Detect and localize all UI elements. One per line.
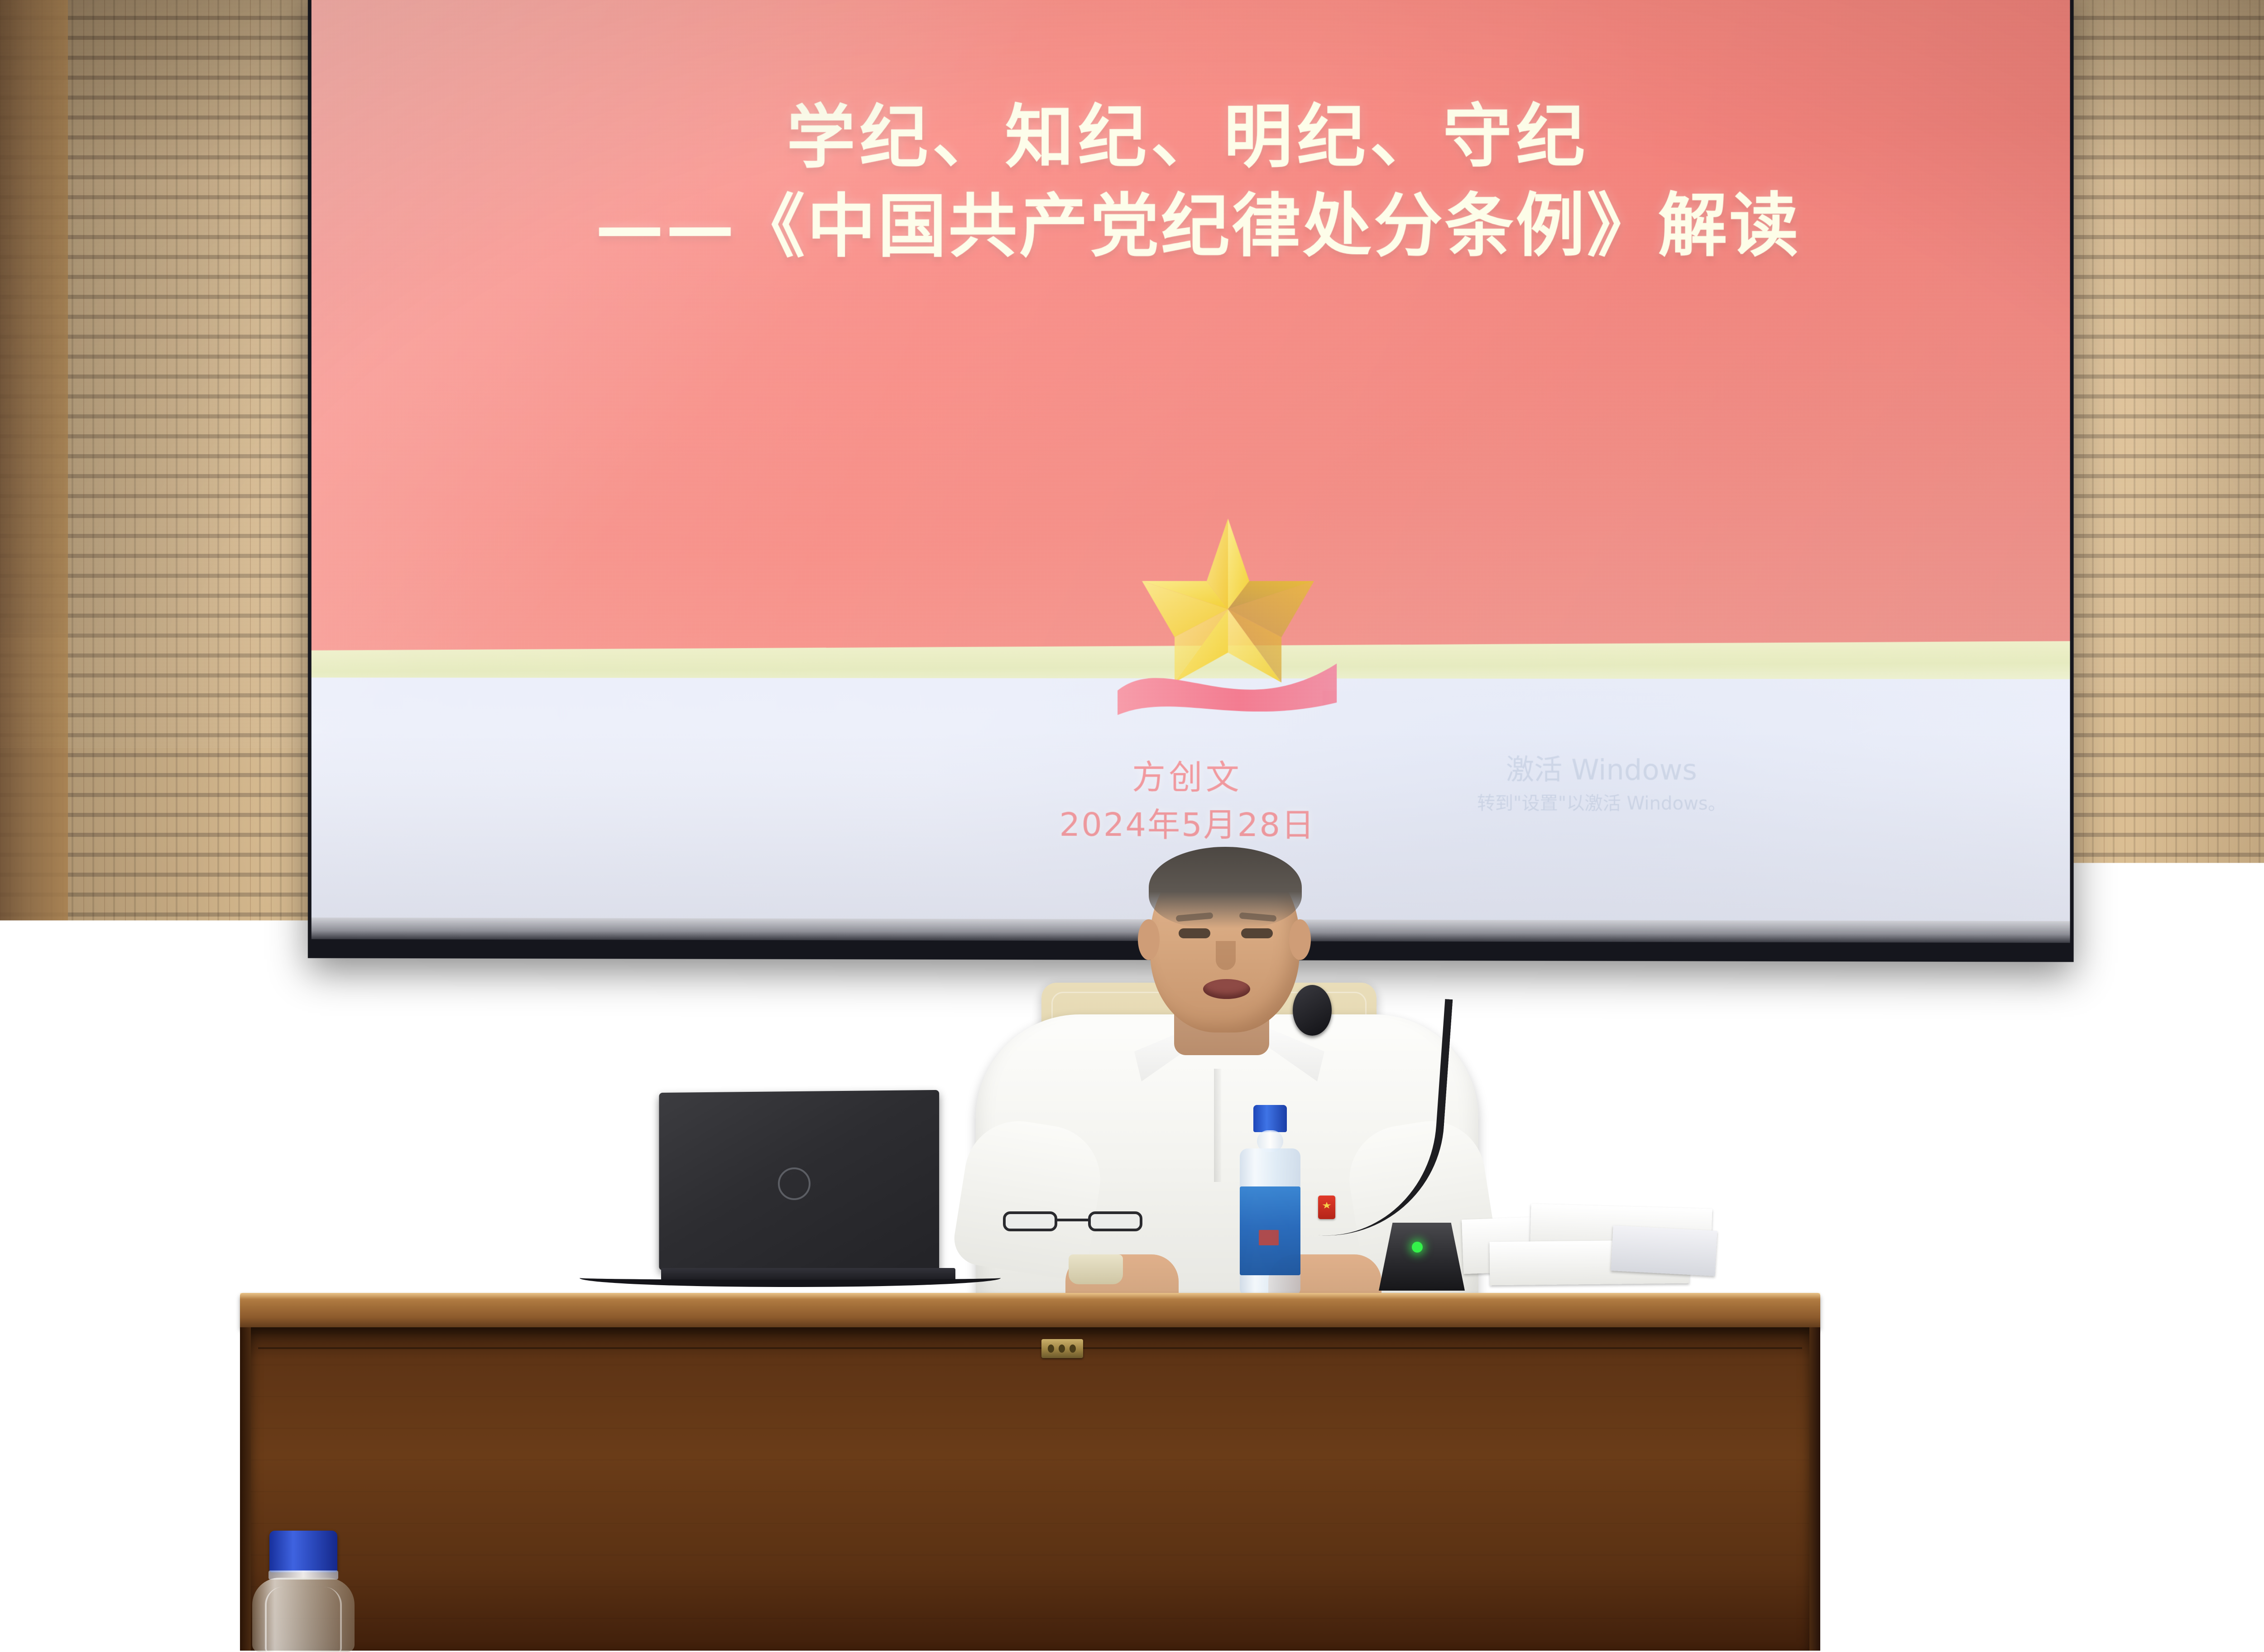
tea-cup-inscription — [430, 1241, 457, 1264]
speaker-eye-left — [1179, 928, 1210, 938]
computer-mouse[interactable] — [510, 1239, 578, 1274]
speaker-ear-left — [1138, 919, 1160, 960]
laptop-dell[interactable] — [657, 1091, 960, 1286]
paper-stack — [1463, 1200, 1716, 1291]
conference-desk — [240, 1293, 1820, 1651]
paper-sheet — [1611, 1225, 1717, 1276]
watermark-line-1: 激活 Windows — [1443, 749, 1761, 791]
desk-top-surface — [240, 1293, 1820, 1328]
speaker-eye-right — [1241, 928, 1273, 938]
wall-corner-left — [0, 0, 68, 1481]
water-bottle — [1236, 1105, 1304, 1295]
water-bottle-cap — [1253, 1105, 1287, 1132]
star-emblem-icon — [1101, 514, 1355, 727]
projection-screen: 学纪、知纪、明纪、守纪 ——《中国共产党纪律处分条例》解读 — [312, 0, 2070, 943]
water-bottle-foreground — [242, 1531, 365, 1652]
watermark-line-2: 转到"设置"以激活 Windows。 — [1443, 790, 1761, 817]
desk-side-right — [1809, 1327, 1820, 1651]
slide-subtitle: ——《中国共产党纪律处分条例》解读 — [312, 180, 2070, 272]
eyeglasses-bridge — [1056, 1219, 1090, 1221]
desk-lock-pin — [1059, 1345, 1065, 1353]
foreground-bottle-body — [252, 1578, 355, 1652]
foreground-bottle-cap — [269, 1531, 337, 1572]
small-cup — [1069, 1254, 1123, 1284]
microphone-capsule-icon — [1293, 985, 1332, 1036]
desk-lock-pin — [1048, 1345, 1054, 1353]
slide-title: 学纪、知纪、明纪、守纪 — [312, 91, 2070, 182]
photo-scene: 学纪、知纪、明纪、守纪 ——《中国共产党纪律处分条例》解读 — [0, 0, 2264, 1652]
water-bottle-label — [1240, 1186, 1300, 1275]
speaker-hair — [1149, 847, 1302, 928]
desk-front-panel — [250, 1327, 1810, 1651]
eyeglasses — [1003, 1207, 1152, 1234]
speaker-shirt-placket — [1214, 1069, 1221, 1182]
windows-activation-watermark: 激活 Windows 转到"设置"以激活 Windows。 — [1443, 749, 1761, 817]
eyeglasses-lens-right — [1088, 1211, 1142, 1231]
eyeglasses-lens-left — [1003, 1211, 1057, 1231]
speaker-nose — [1216, 941, 1236, 970]
slide-presenter-name: 方创文 — [312, 753, 2070, 803]
projection-screen-frame: 学纪、知纪、明纪、守纪 ——《中国共产党纪律处分条例》解读 — [308, 0, 2074, 962]
microphone-base[interactable] — [1379, 1223, 1465, 1291]
speaker-mouth — [1203, 979, 1250, 999]
desk-panel-seam — [258, 1347, 1802, 1349]
speaker-ear-right — [1289, 919, 1311, 960]
desk-lock-pin — [1070, 1345, 1076, 1353]
tea-cup-ring — [418, 1229, 485, 1232]
microphone-status-led — [1412, 1242, 1423, 1253]
desk-drawer-lock[interactable] — [1041, 1339, 1083, 1358]
dell-logo-icon — [778, 1167, 811, 1200]
pink-object-corner — [2250, 1612, 2264, 1652]
tea-cup-lid-knob — [445, 1157, 458, 1192]
laptop-cable — [580, 1269, 1001, 1287]
